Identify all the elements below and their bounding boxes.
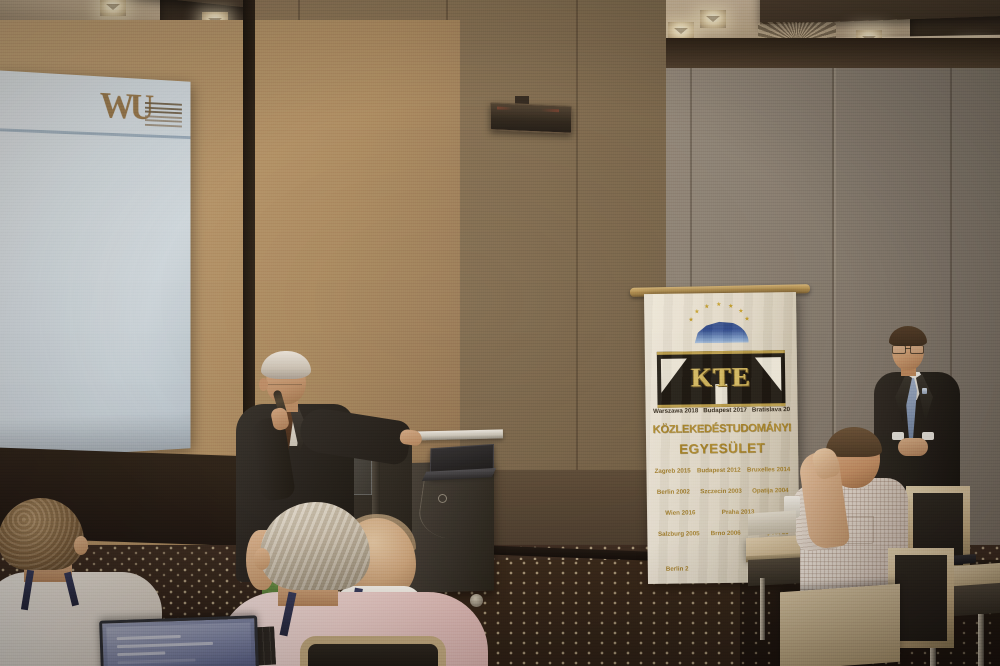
projection-screen: WU xyxy=(0,70,191,460)
eyeglasses xyxy=(268,376,302,385)
banner-emblem: ★ ★ ★ ★ ★ ★ ★ xyxy=(678,302,763,349)
conference-table-front xyxy=(780,584,900,666)
wu-logo-subtext xyxy=(145,102,182,129)
ear xyxy=(254,548,270,570)
kte-logo-block: KTE xyxy=(657,350,786,408)
downlight xyxy=(700,10,726,28)
bridge-icon xyxy=(694,321,748,344)
hair xyxy=(260,502,370,590)
banquet-chair[interactable] xyxy=(300,636,446,666)
laptop-screen-content xyxy=(106,622,251,666)
banner-city-row: Zagreb 2015 Budapest 2012 Bruxelles 2014 xyxy=(646,466,798,475)
downlight xyxy=(100,0,126,16)
ceiling-projector xyxy=(490,102,572,134)
banner-top-row: Warszawa 2018 Budapest 2017 Bratislava 2… xyxy=(646,406,798,415)
banner-city: Wien 2016 xyxy=(665,509,695,516)
banner-city: Opatija 2004 xyxy=(752,487,789,495)
banner-city: Budapest 2017 xyxy=(703,407,747,415)
kte-logo-text: KTE xyxy=(657,361,785,393)
hair xyxy=(889,326,927,346)
banner-title-line1: KÖZLEKEDÉSTUDOMÁNYI xyxy=(646,422,798,436)
banner-city: Brno 2006 xyxy=(711,530,741,537)
banner-city: Warszawa 2018 xyxy=(653,407,698,415)
banner-city: Zagreb 2015 xyxy=(655,467,691,475)
banner-city: Szczecin 2003 xyxy=(700,488,742,496)
banner-city: Bratislava 20 xyxy=(752,406,790,414)
table-leg xyxy=(978,614,984,666)
lapel-pin xyxy=(922,388,927,394)
hair xyxy=(261,351,311,379)
table-paper xyxy=(748,510,796,535)
banner-city: Berlin 2002 xyxy=(657,488,690,495)
wall-right-upper-shadow xyxy=(650,38,1000,68)
banner-title-line2: EGYESÜLET xyxy=(646,440,798,457)
foreground-laptop[interactable] xyxy=(100,618,260,666)
table-leg xyxy=(760,578,765,640)
wu-logo: WU xyxy=(94,88,183,136)
banner-city: Budapest 2012 xyxy=(697,467,741,475)
wu-wordmark: WU xyxy=(100,88,150,125)
eyeglasses xyxy=(892,345,924,353)
ear xyxy=(74,536,88,555)
hair xyxy=(0,498,84,570)
ear xyxy=(259,378,268,391)
banner-city-row: Berlin 2002 Szczecin 2003 Opatija 2004 xyxy=(647,487,799,496)
banner-city: Bruxelles 2014 xyxy=(747,466,790,474)
banner-city: Salzburg 2005 xyxy=(658,530,700,538)
laptop-lid[interactable] xyxy=(99,615,259,666)
banner-city: Berlin 2 xyxy=(666,565,689,572)
photo-scene: WU ★ ★ ★ ★ ★ ★ ★ xyxy=(0,0,1000,666)
